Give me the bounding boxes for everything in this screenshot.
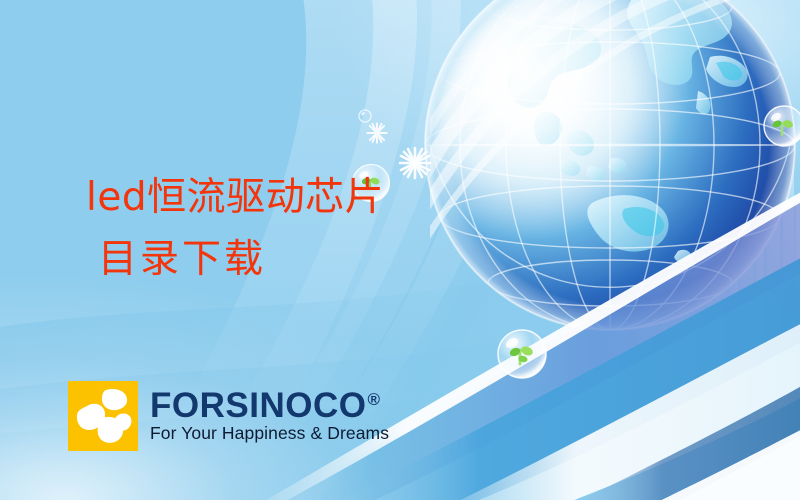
headline-line-2: 目录下载 bbox=[98, 228, 266, 284]
four-petal-pinwheel-icon bbox=[68, 381, 138, 451]
bubble-icon bbox=[762, 104, 800, 148]
brand-tagline: For Your Happiness & Dreams bbox=[150, 424, 389, 443]
brand-name-row: FORSINOCO ® bbox=[150, 389, 389, 423]
registered-trademark-icon: ® bbox=[367, 391, 380, 408]
sparkle-icon bbox=[366, 122, 388, 144]
promo-banner: led恒流驱动芯片 目录下载 FORSINOCO ® bbox=[0, 0, 800, 500]
sparkle-icon bbox=[398, 146, 432, 180]
headline-line-1: led恒流驱动芯片 bbox=[86, 166, 384, 222]
brand-wordmark: FORSINOCO ® For Your Happiness & Dreams bbox=[150, 389, 389, 444]
brand-logo: FORSINOCO ® For Your Happiness & Dreams bbox=[68, 381, 389, 451]
bubble-icon bbox=[496, 328, 548, 380]
bubble-icon bbox=[358, 109, 372, 123]
brand-name: FORSINOCO bbox=[150, 389, 366, 423]
